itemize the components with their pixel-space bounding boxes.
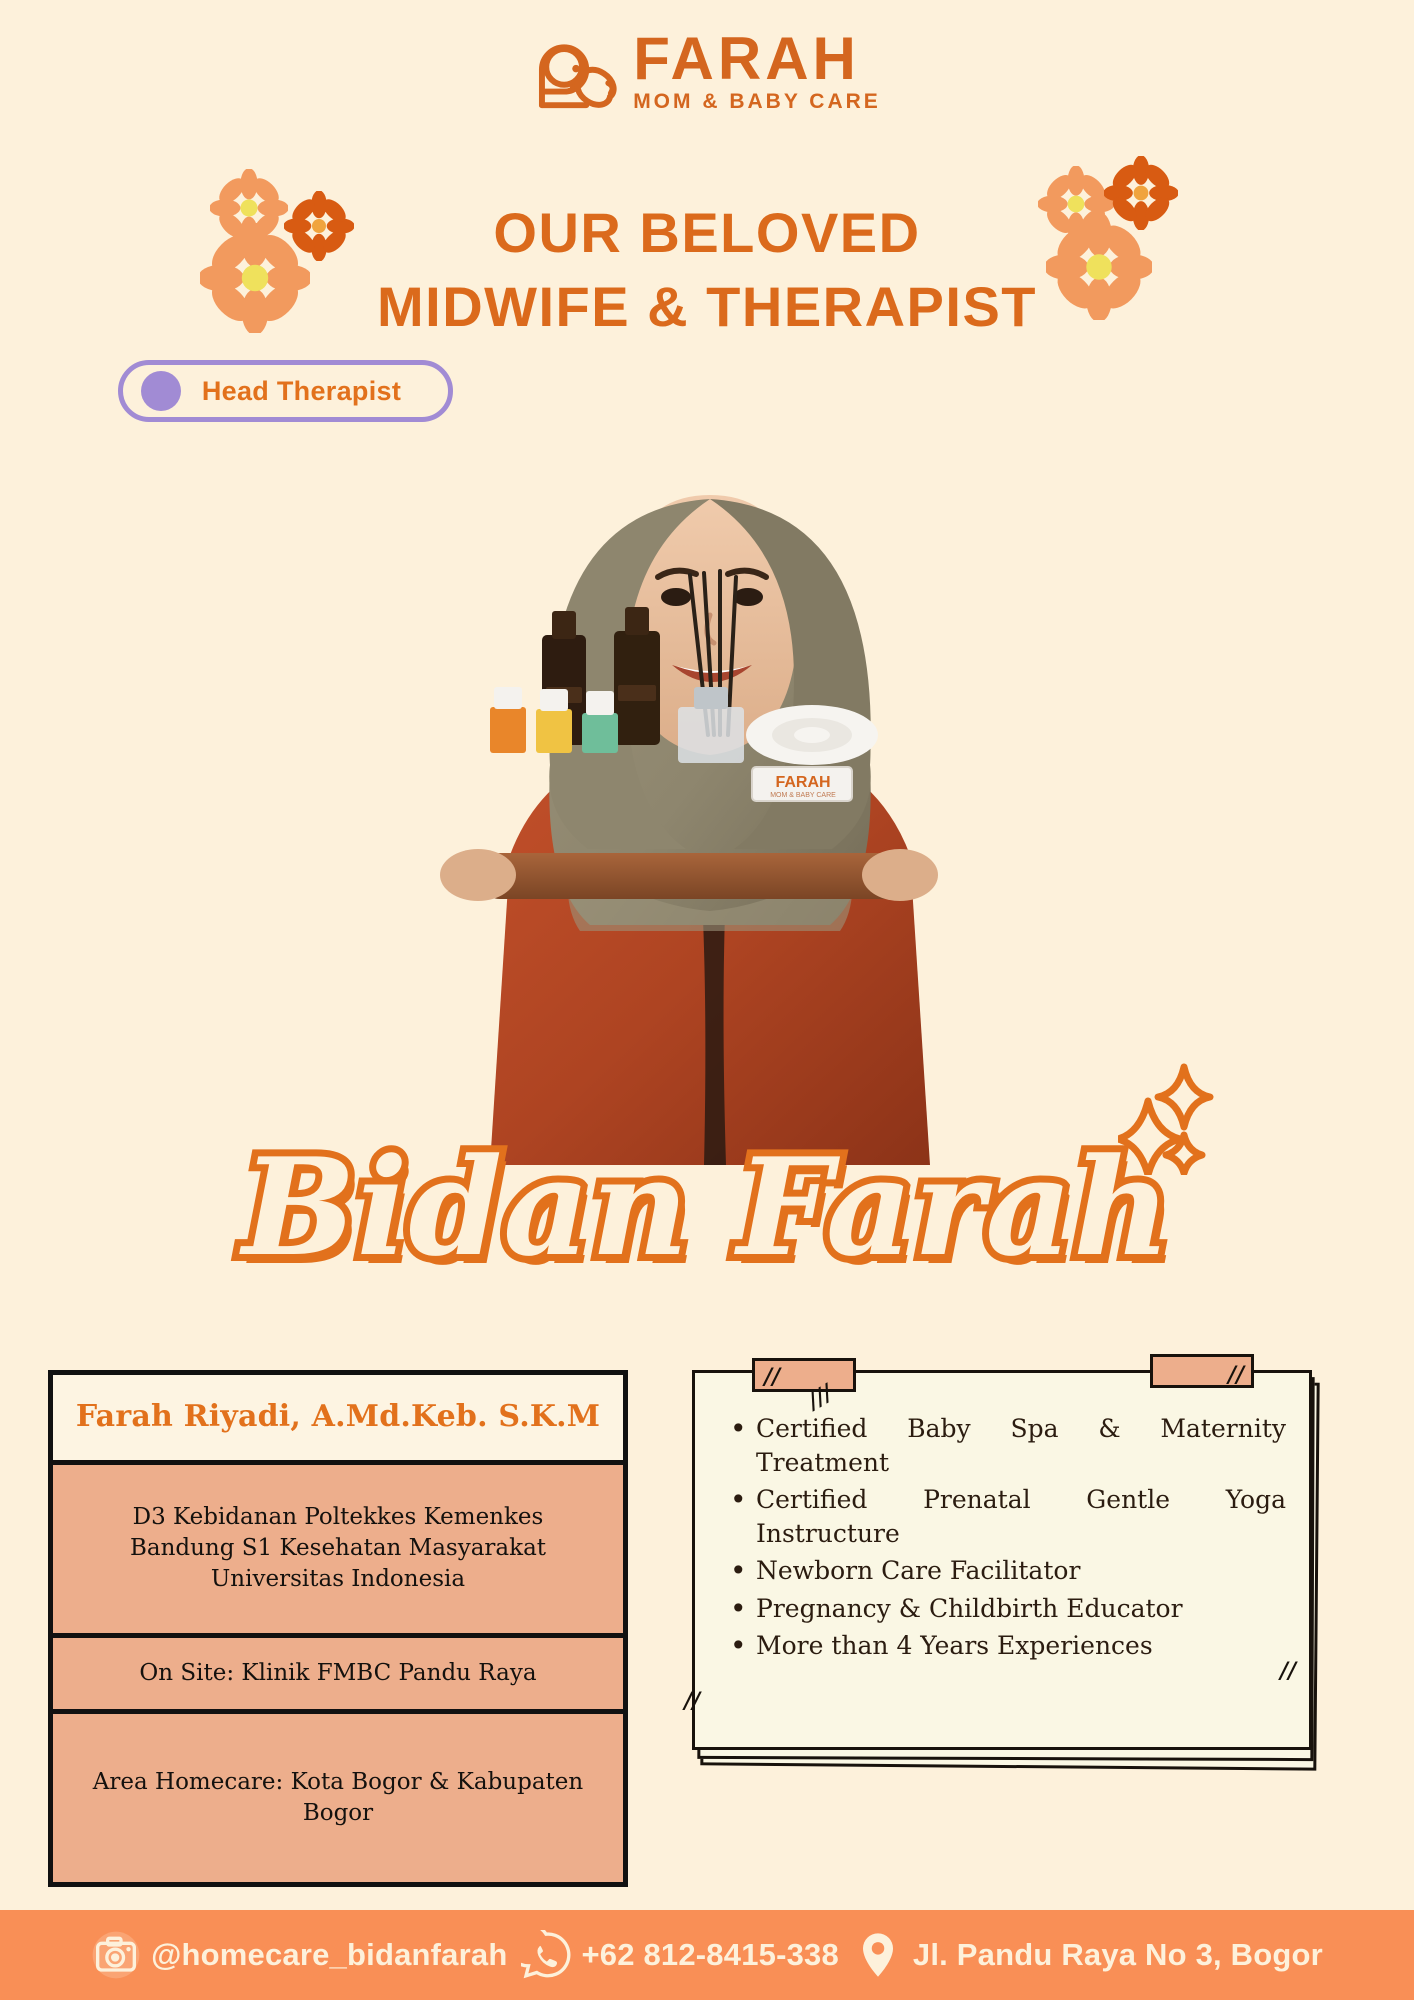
list-item: More than 4 Years Experiences [718,1629,1286,1663]
certification-list: Certified Baby Spa & Maternity Treatment… [718,1412,1286,1663]
instagram-handle: @homecare_bidanfarah [151,1937,507,1973]
education-value: D3 Kebidanan Poltekkes Kemenkes Bandung … [77,1485,599,1613]
phone-number: +62 812-8415-338 [581,1937,838,1973]
certifications-card: // // /// // // Certified Baby Spa & Mat… [688,1368,1328,1768]
table-row: D3 Kebidanan Poltekkes Kemenkes Bandung … [53,1465,623,1638]
credentials-table: Farah Riyadi, A.Md.Keb. S.K.M D3 Kebidan… [48,1370,628,1887]
table-row: On Site: Klinik FMBC Pandu Raya [53,1638,623,1714]
location-pin-icon [853,1930,903,1980]
contact-footer: @homecare_bidanfarah +62 812-8415-338 Jl… [0,1910,1414,2000]
tick-mark-icon: // [764,1364,780,1390]
tick-mark-icon: // [684,1688,700,1714]
address-contact[interactable]: Jl. Pandu Raya No 3, Bogor [853,1930,1323,1980]
instagram-camera-icon [91,1930,141,1980]
list-item: Pregnancy & Childbirth Educator [718,1592,1286,1626]
table-row: Area Homecare: Kota Bogor & Kabupaten Bo… [53,1714,623,1882]
address-text: Jl. Pandu Raya No 3, Bogor [913,1937,1323,1973]
person-full-name: Farah Riyadi, A.Md.Keb. S.K.M [71,1397,605,1438]
list-item: Certified Baby Spa & Maternity Treatment [718,1412,1286,1479]
headline-line-1: OUR BELOVED [0,196,1414,270]
brand-title: FARAH [633,30,860,87]
onsite-value: On Site: Klinik FMBC Pandu Raya [77,1658,599,1689]
svg-text:FARAH: FARAH [775,774,830,791]
whatsapp-contact[interactable]: +62 812-8415-338 [521,1930,838,1980]
brand-logo: FARAH MOM & BABY CARE [0,30,1414,114]
status-dot-icon [141,371,181,411]
list-item: Certified Prenatal Gentle Yoga Instructu… [718,1483,1286,1550]
table-row: Farah Riyadi, A.Md.Keb. S.K.M [53,1375,623,1465]
page-title: OUR BELOVED MIDWIFE & THERAPIST [0,196,1414,344]
homecare-area-value: Area Homecare: Kota Bogor & Kabupaten Bo… [77,1734,599,1862]
brand-subtitle: MOM & BABY CARE [633,90,881,114]
list-item: Newborn Care Facilitator [718,1554,1286,1588]
poster-root: FARAH MOM & BABY CARE [0,0,1414,2000]
headline-line-2: MIDWIFE & THERAPIST [0,270,1414,344]
instagram-contact[interactable]: @homecare_bidanfarah [91,1930,507,1980]
therapist-photo: FARAH MOM & BABY CARE [360,335,1060,1165]
mom-and-baby-icon [533,32,619,112]
tick-mark-icon: // [1228,1362,1244,1388]
card-content: // // /// // // Certified Baby Spa & Mat… [692,1370,1312,1750]
svg-text:MOM & BABY CARE: MOM & BABY CARE [770,792,836,799]
sparkle-icon [1118,1055,1238,1175]
whatsapp-phone-icon [521,1930,571,1980]
